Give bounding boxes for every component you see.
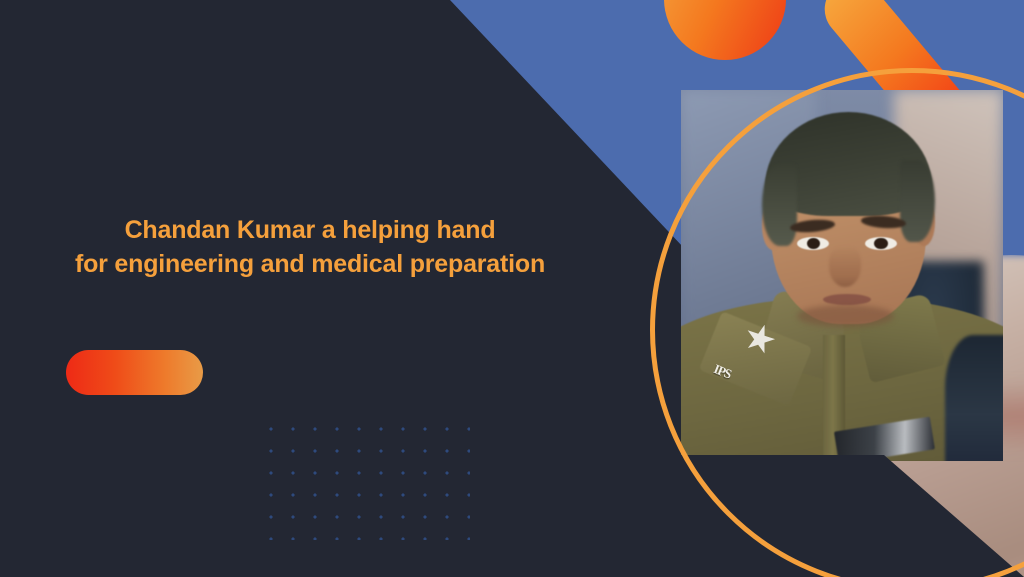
portrait-arm-right [945, 335, 1003, 461]
portrait-photo-inner: IPS [681, 90, 1003, 461]
portrait-nose [829, 246, 861, 287]
portrait-hair-left [762, 164, 797, 246]
portrait-pupil-right [874, 238, 888, 250]
cta-button[interactable] [66, 350, 203, 395]
headline-text: Chandan Kumar a helping hand for enginee… [0, 214, 620, 282]
dot-grid-decoration [258, 416, 470, 540]
portrait-photo: IPS [681, 90, 1003, 461]
promo-banner: IPS Chandan Kumar a helping hand for eng… [0, 0, 1024, 577]
portrait-pupil-left [807, 238, 821, 250]
